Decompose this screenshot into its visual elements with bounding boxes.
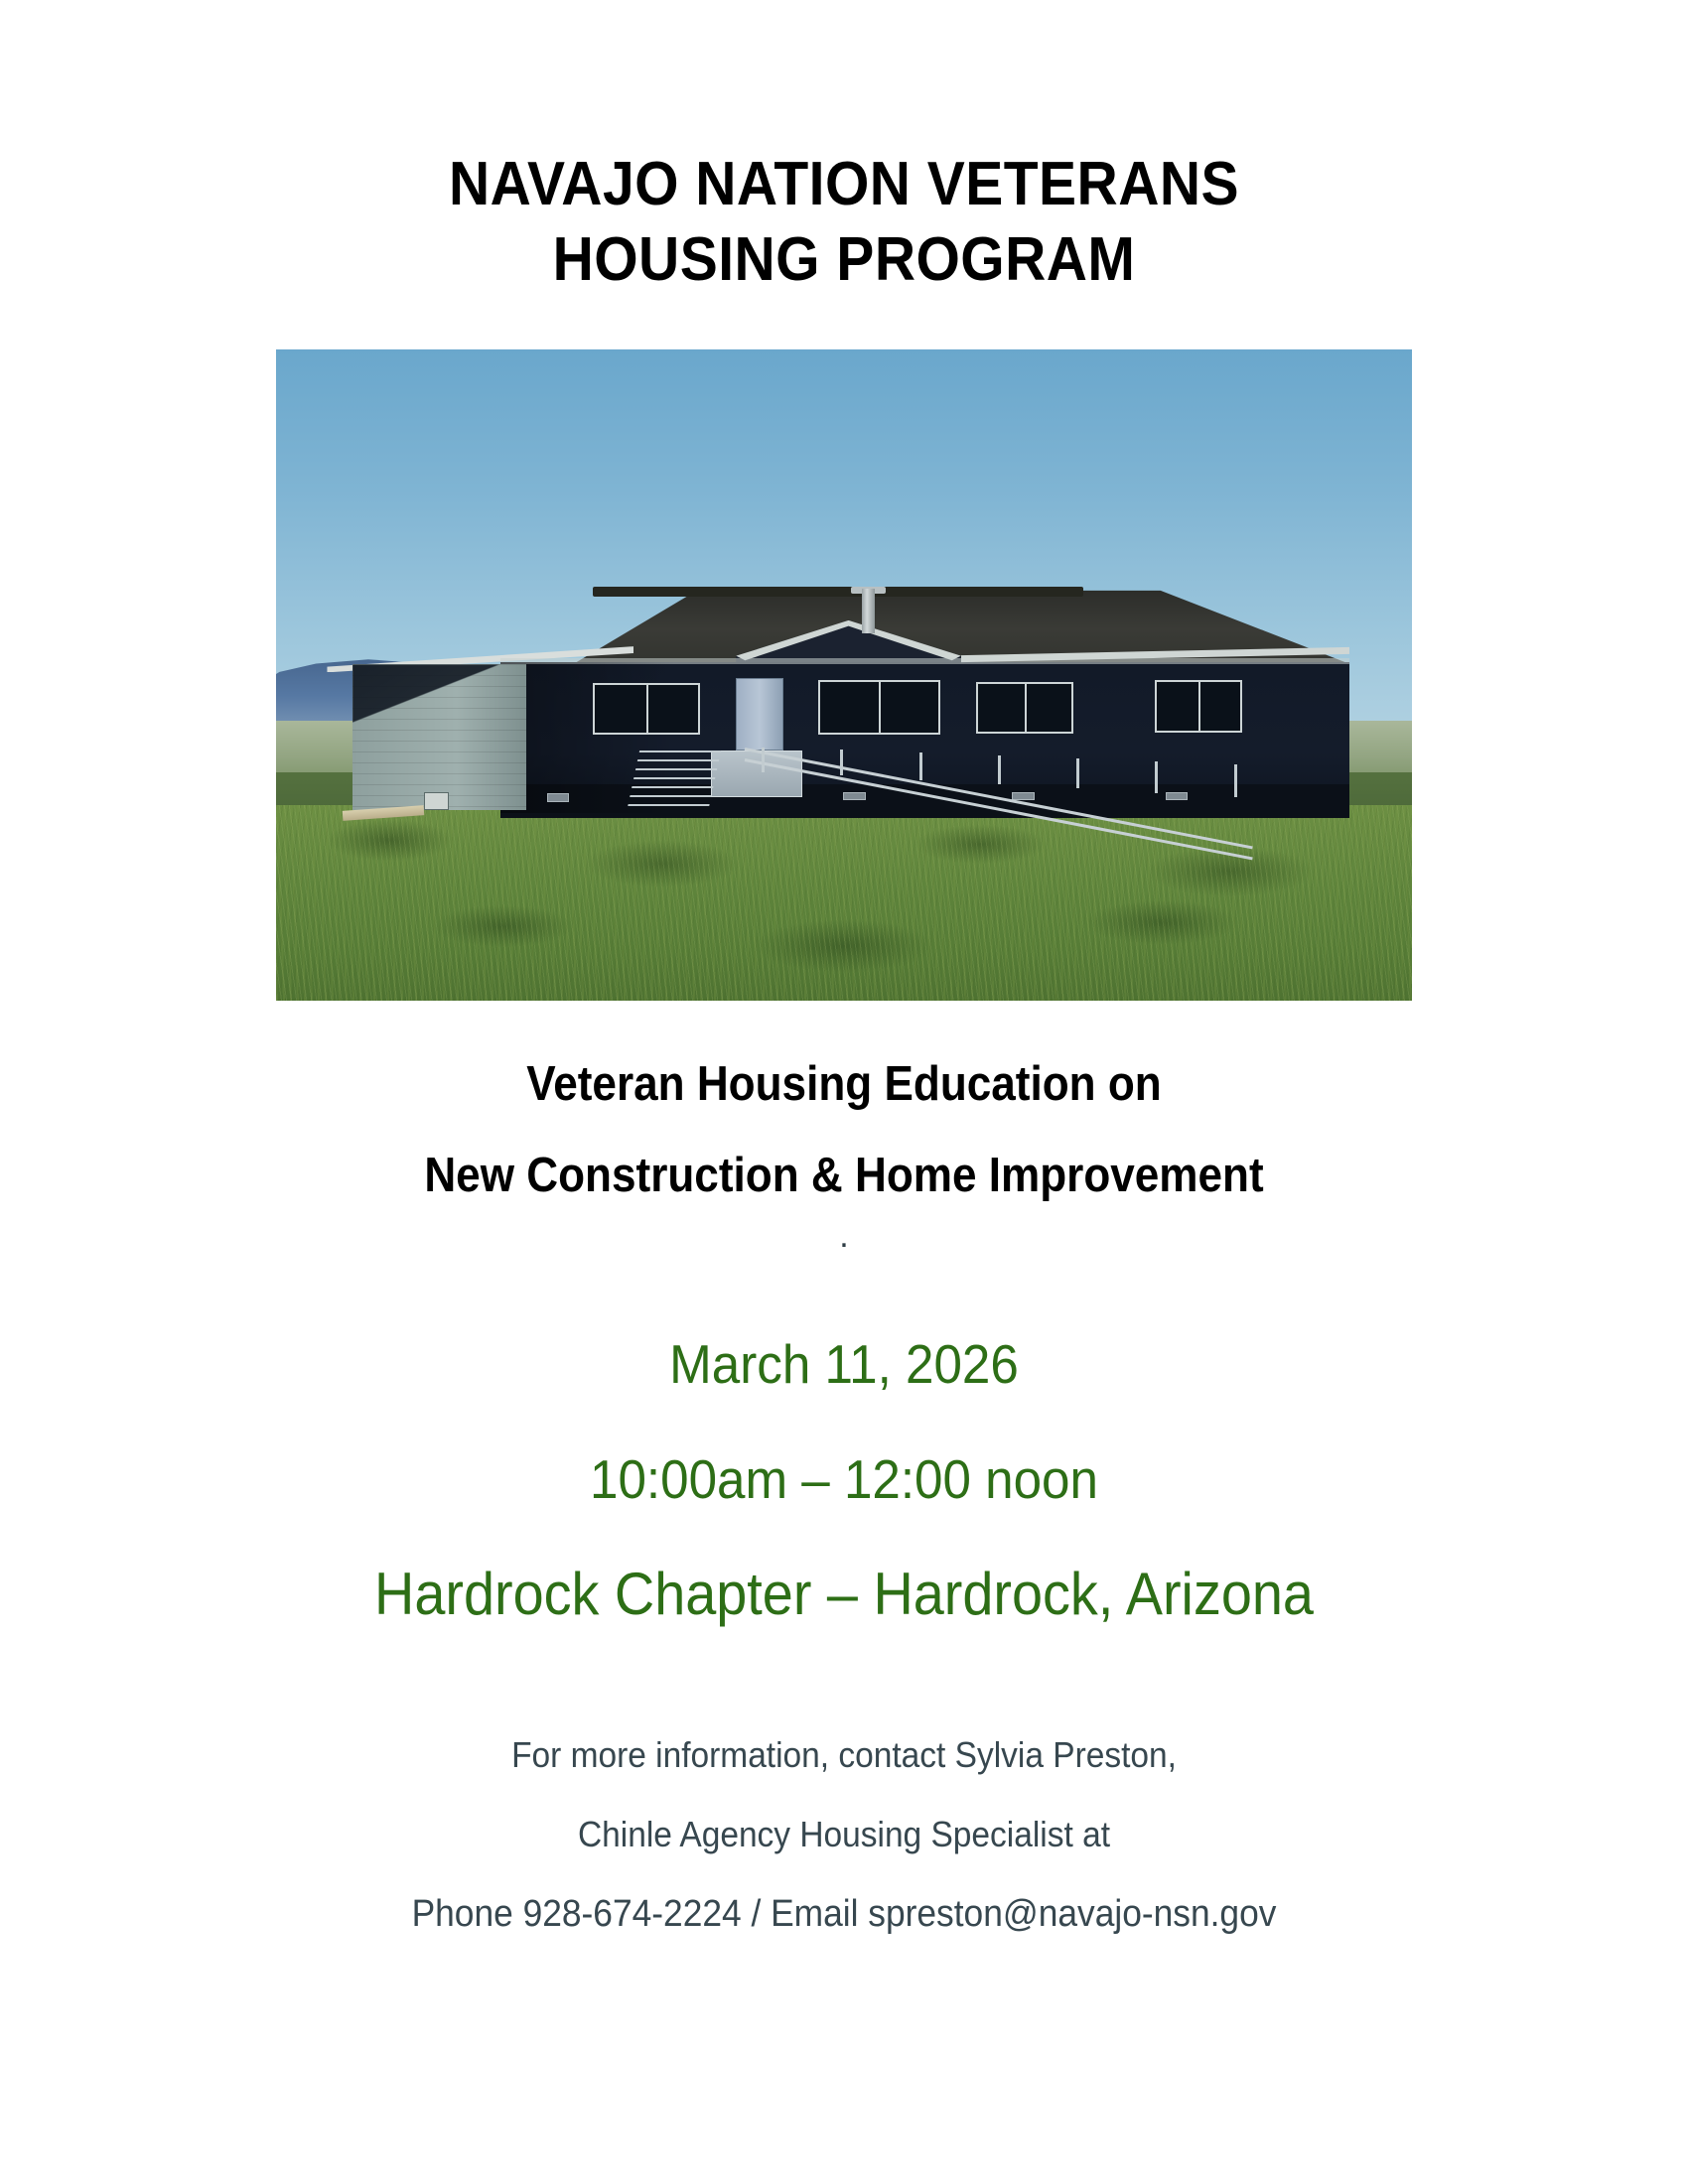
accessibility-ramp xyxy=(705,743,1267,815)
house-photo xyxy=(276,349,1412,1001)
ramp-post-2 xyxy=(840,750,843,775)
shed-vent xyxy=(424,792,449,810)
contact-line-1: For more information, contact Sylvia Pre… xyxy=(60,1715,1629,1795)
event-date: March 11, 2026 xyxy=(60,1306,1629,1422)
house-photo-scene xyxy=(276,349,1412,1001)
house xyxy=(327,584,1349,844)
contact-info: For more information, contact Sylvia Pre… xyxy=(0,1715,1688,1954)
ramp-post-7 xyxy=(1234,764,1237,798)
subtitle-line-1: Veteran Housing Education on xyxy=(84,1038,1604,1130)
event-details: March 11, 2026 10:00am – 12:00 noon Hard… xyxy=(0,1306,1688,1652)
title-line-2: HOUSING PROGRAM xyxy=(68,222,1620,298)
contact-line-3: Phone 928-674-2224 / Email spreston@nava… xyxy=(60,1874,1629,1954)
contact-line-2: Chinle Agency Housing Specialist at xyxy=(60,1795,1629,1874)
stray-period-mark: . xyxy=(0,1217,1688,1256)
flyer-page: NAVAJO NATION VETERANS HOUSING PROGRAM xyxy=(0,0,1688,2184)
front-door xyxy=(736,678,782,751)
window-2 xyxy=(818,680,941,735)
window-4 xyxy=(1155,680,1242,732)
subtitle-line-2: New Construction & Home Improvement xyxy=(84,1130,1604,1221)
ramp-post-4 xyxy=(998,755,1001,784)
subtitle: Veteran Housing Education on New Constru… xyxy=(0,1038,1688,1221)
ramp-post-1 xyxy=(762,748,765,772)
ramp-post-6 xyxy=(1155,761,1158,793)
window-3 xyxy=(976,682,1073,734)
page-title: NAVAJO NATION VETERANS HOUSING PROGRAM xyxy=(0,147,1688,298)
foundation-vent-1 xyxy=(547,793,570,801)
title-line-1: NAVAJO NATION VETERANS xyxy=(68,147,1620,222)
chimney-flue xyxy=(862,589,875,633)
ramp-post-5 xyxy=(1076,758,1079,789)
event-time: 10:00am – 12:00 noon xyxy=(60,1422,1629,1537)
ramp-post-3 xyxy=(919,752,922,780)
event-location: Hardrock Chapter – Hardrock, Arizona xyxy=(60,1537,1629,1652)
roof-ridge xyxy=(593,587,1083,597)
window-1 xyxy=(593,683,700,735)
